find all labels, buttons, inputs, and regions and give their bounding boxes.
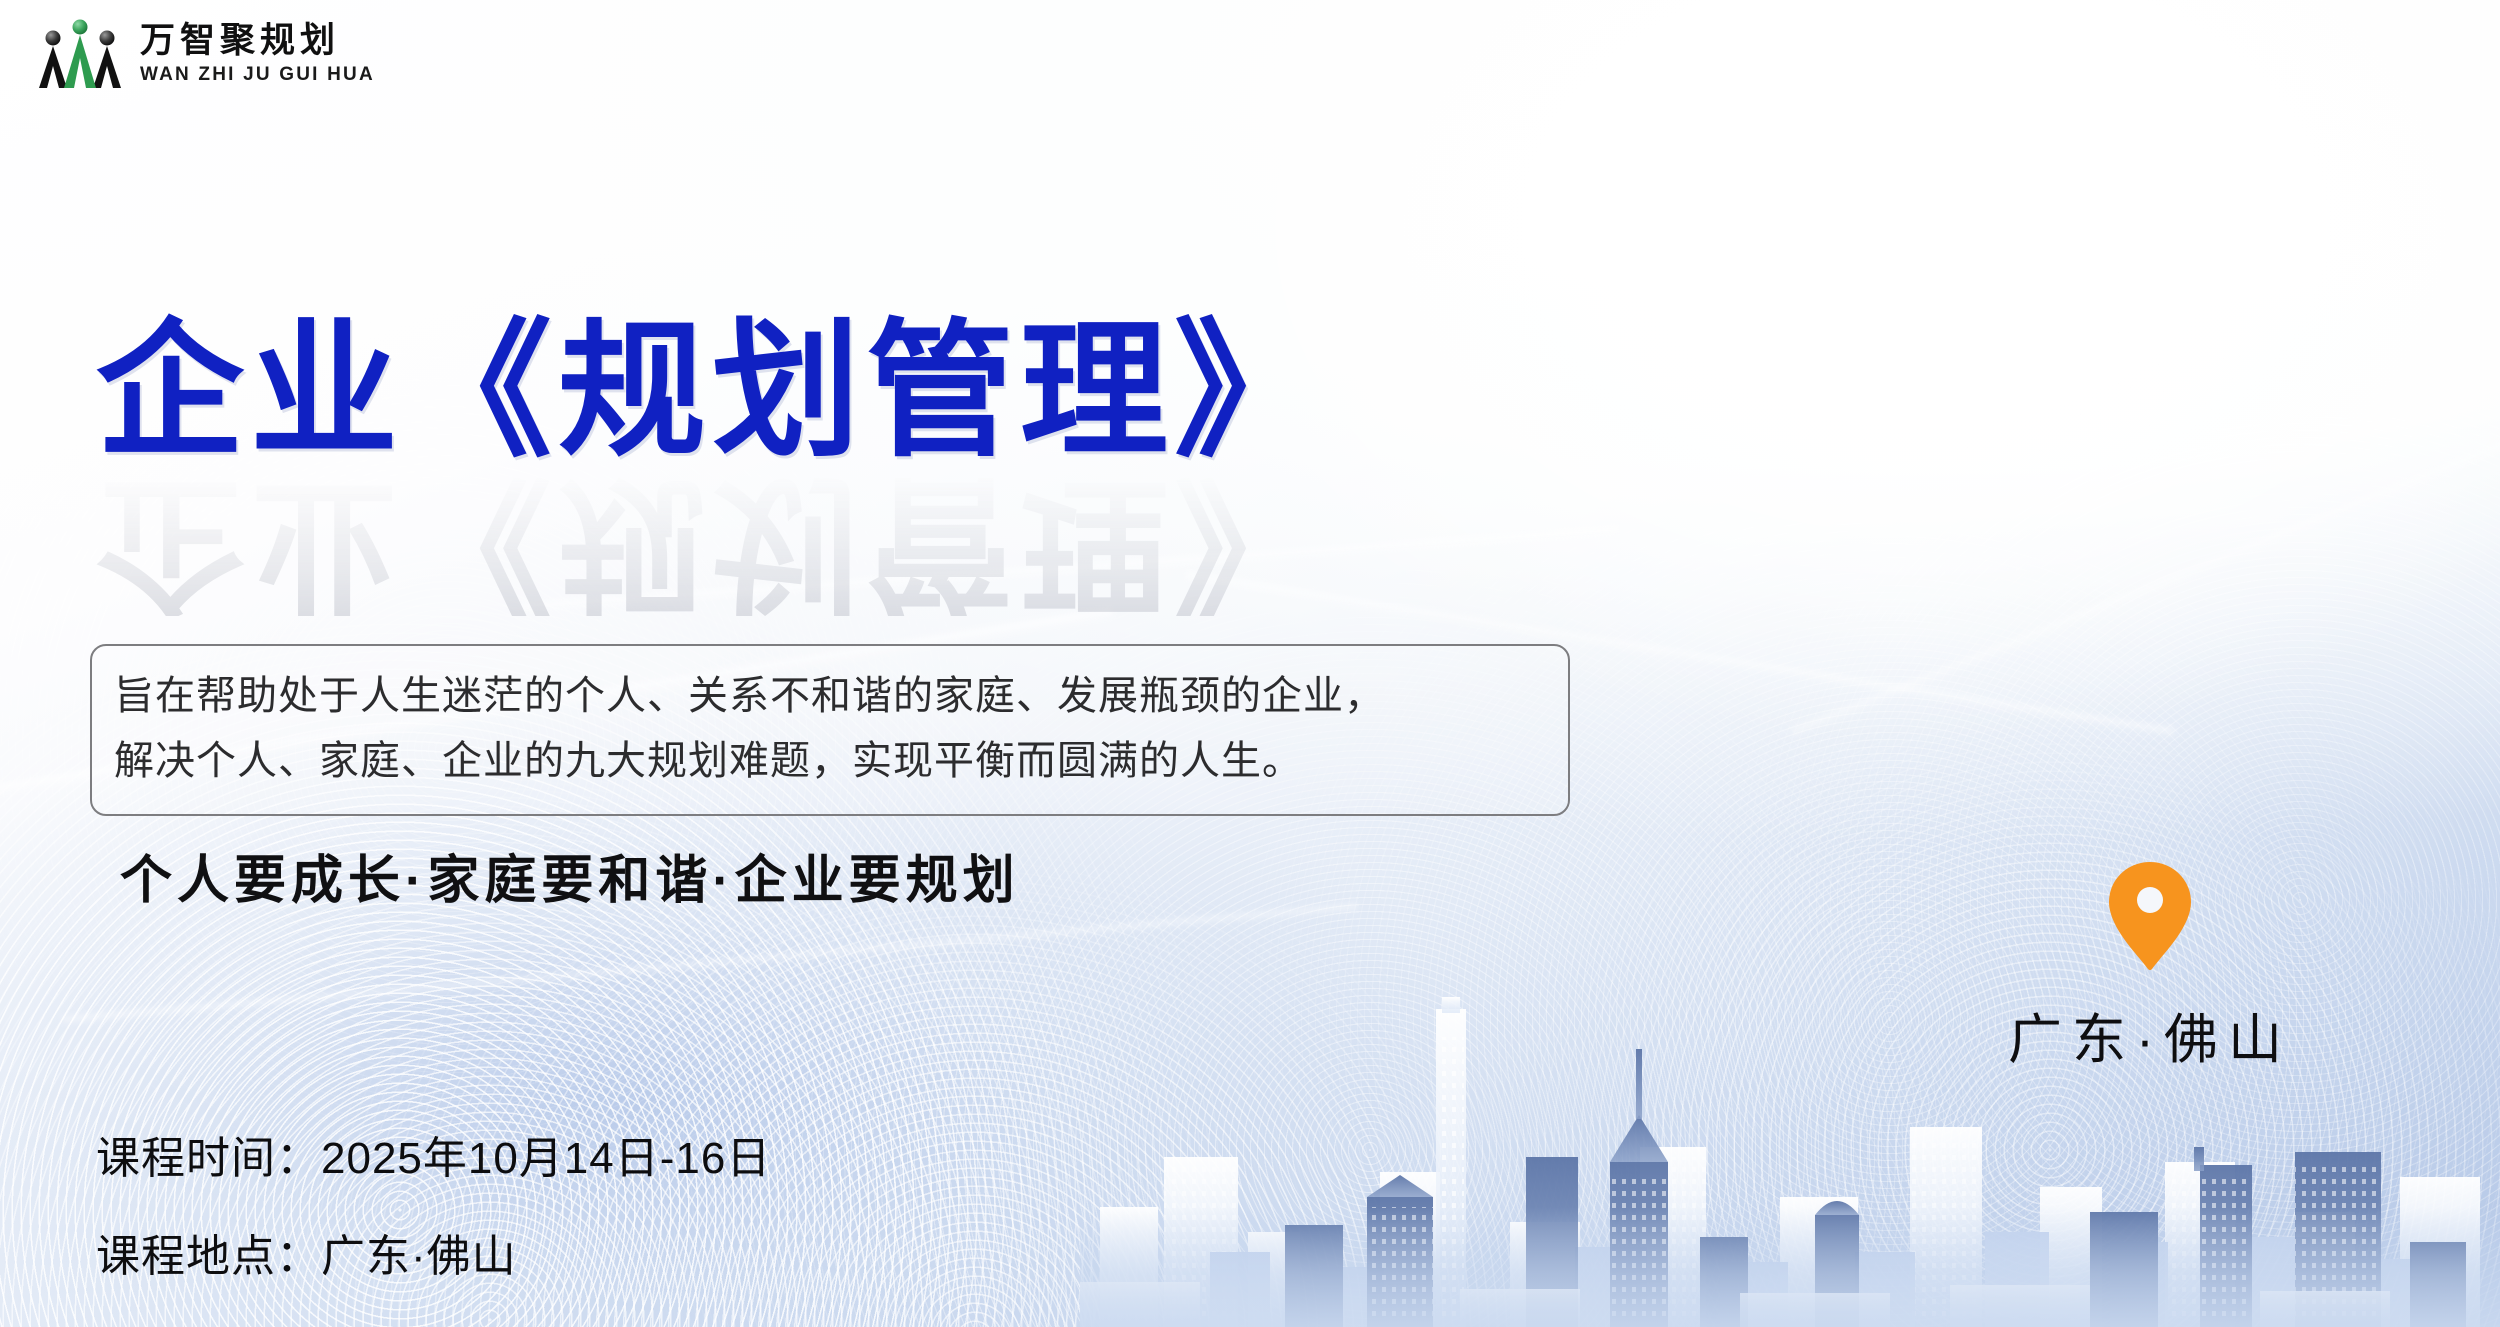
description-line-1: 旨在帮助处于人生迷茫的个人、关系不和谐的家庭、发展瓶颈的企业， <box>114 664 1546 729</box>
brand-name-en: WAN ZHI JU GUI HUA <box>140 65 375 84</box>
brand-wordmark: 万智聚规划 WAN ZHI JU GUI HUA <box>140 23 375 84</box>
course-time: 课程时间：2025年10月14日-16日 <box>96 1122 771 1186</box>
tagline: 个人要成长·家庭要和谐·企业要规划 <box>120 838 1020 913</box>
location-label: 广东·佛山 <box>2008 1010 2292 1070</box>
description-box: 旨在帮助处于人生迷茫的个人、关系不和谐的家庭、发展瓶颈的企业， 解决个人、家庭、… <box>90 644 1570 816</box>
description-line-2: 解决个人、家庭、企业的九大规划难题，实现平衡而圆满的人生。 <box>114 729 1546 794</box>
brand-name-cn: 万智聚规划 <box>140 23 375 58</box>
brand-logo: 万智聚规划 WAN ZHI JU GUI HUA <box>34 14 375 92</box>
page-title: 企业《规划管理》 <box>96 318 1736 466</box>
poster-canvas: 万智聚规划 WAN ZHI JU GUI HUA 企业《规划管理》 企业《规划管… <box>0 0 2500 1327</box>
three-people-logo-icon <box>34 14 126 92</box>
location-block: 广东·佛山 <box>1940 860 2360 1074</box>
course-meta: 课程时间：2025年10月14日-16日 课程地点：广东·佛山 <box>96 1122 771 1284</box>
hero-title-block: 企业《规划管理》 企业《规划管理》 <box>96 318 1736 466</box>
course-place: 课程地点：广东·佛山 <box>96 1220 771 1284</box>
map-pin-icon <box>1940 860 2360 977</box>
